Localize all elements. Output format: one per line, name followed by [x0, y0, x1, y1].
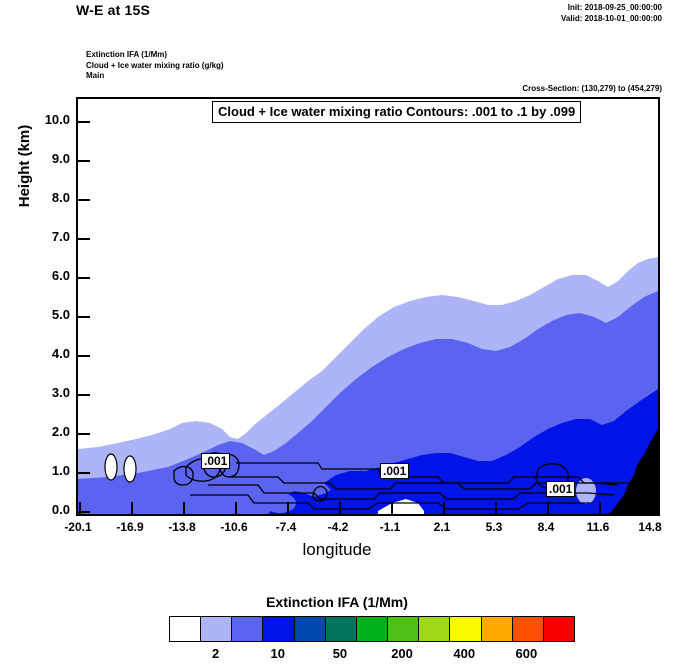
- swatch-yellow[interactable]: [450, 617, 481, 641]
- y-tick-label: 2.0: [24, 424, 70, 439]
- cross-section-plot: [78, 99, 658, 514]
- x-tick-label: -1.1: [363, 520, 417, 534]
- swatch-orange[interactable]: [482, 617, 513, 641]
- shaded-field: [78, 99, 658, 514]
- x-tick-label: -10.6: [207, 520, 261, 534]
- x-tick-label: 5.3: [467, 520, 521, 534]
- cross-section-label: Cross-Section: (130,279) to (454,279): [522, 84, 662, 93]
- y-tick-label: 3.0: [24, 385, 70, 400]
- page-title: W-E at 15S: [76, 2, 150, 18]
- colorbar-title: Extinction IFA (1/Mm): [0, 594, 674, 610]
- swatch-lavender[interactable]: [201, 617, 232, 641]
- x-tick-label: -20.1: [51, 520, 105, 534]
- x-tick-label: 14.8: [623, 520, 674, 534]
- contour-label-2: .001: [380, 463, 409, 479]
- x-tick-label: -13.8: [155, 520, 209, 534]
- y-tick-label: 10.0: [24, 112, 70, 127]
- y-tick-label: 7.0: [24, 229, 70, 244]
- colorbar-tick-label: 2: [196, 646, 236, 661]
- contour-spot-far-left-a: [105, 454, 117, 480]
- init-time-label: Init: 2018-09-25_00:00:00: [568, 3, 662, 12]
- subtitle-extinction: Extinction IFA (1/Mm): [86, 50, 224, 61]
- swatch-teal[interactable]: [326, 617, 357, 641]
- subtitle-block: Extinction IFA (1/Mm) Cloud + Ice water …: [86, 50, 224, 82]
- colorbar-tick-label: 50: [320, 646, 360, 661]
- y-tick-label: 4.0: [24, 346, 70, 361]
- x-tick-label: 8.4: [519, 520, 573, 534]
- swatch-orange-red[interactable]: [513, 617, 544, 641]
- plot-area: .001 .001 .001 Cloud + Ice water mixing …: [76, 97, 660, 516]
- swatch-red[interactable]: [544, 617, 574, 641]
- colorbar-tick-label: 600: [506, 646, 546, 661]
- y-tick-label: 6.0: [24, 268, 70, 283]
- x-tick-label: -7.4: [259, 520, 313, 534]
- swatch-yellow-green[interactable]: [419, 617, 450, 641]
- x-tick-label: -16.9: [103, 520, 157, 534]
- swatch-dark-blue[interactable]: [295, 617, 326, 641]
- colorbar-tick-label: 200: [382, 646, 422, 661]
- valid-time-label: Valid: 2018-10-01_00:00:00: [561, 14, 662, 23]
- y-tick-label: 0.0: [24, 502, 70, 517]
- colorbar-tick-label: 400: [444, 646, 484, 661]
- x-tick-label: -4.2: [311, 520, 365, 534]
- x-axis-title: longitude: [0, 540, 674, 560]
- colorbar-tick-label: 10: [258, 646, 298, 661]
- x-tick-label: 2.1: [415, 520, 469, 534]
- contour-label-1: .001: [201, 453, 230, 469]
- swatch-green[interactable]: [357, 617, 388, 641]
- contour-title-box: Cloud + Ice water mixing ratio Contours:…: [212, 101, 581, 123]
- swatch-blue[interactable]: [263, 617, 294, 641]
- swatch-white[interactable]: [170, 617, 201, 641]
- y-tick-label: 9.0: [24, 151, 70, 166]
- contour-label-3: .001: [546, 481, 575, 497]
- y-tick-label: 1.0: [24, 463, 70, 478]
- subtitle-domain: Main: [86, 71, 224, 82]
- contour-spot-far-left-b: [124, 456, 136, 482]
- y-tick-label: 8.0: [24, 190, 70, 205]
- colorbar[interactable]: [169, 616, 575, 642]
- swatch-periwinkle[interactable]: [232, 617, 263, 641]
- contour-spot-lavender-right: [576, 478, 596, 504]
- x-tick-label: 11.6: [571, 520, 625, 534]
- swatch-lime[interactable]: [388, 617, 419, 641]
- y-tick-label: 5.0: [24, 307, 70, 322]
- subtitle-mixing-ratio: Cloud + Ice water mixing ratio (g/kg): [86, 61, 224, 72]
